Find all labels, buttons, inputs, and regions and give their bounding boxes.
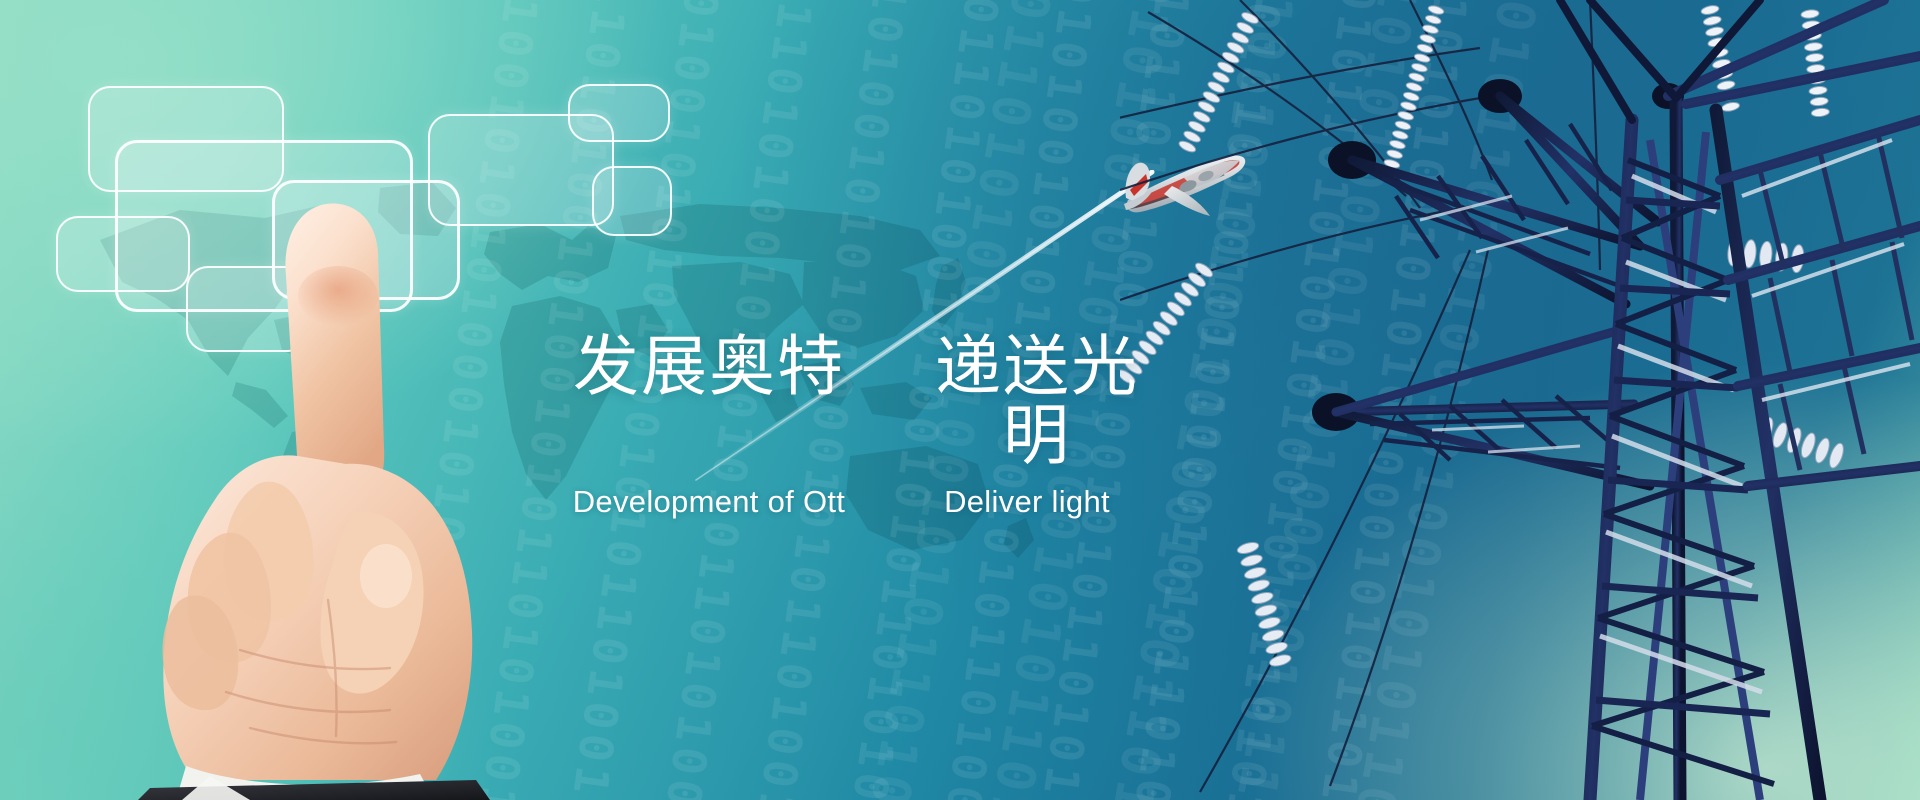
hero-banner: 1010100101010100010101101001010100101010… — [0, 0, 1920, 800]
headline-chinese-left: 发展奥特 — [570, 332, 848, 401]
transmission-tower-icon — [1120, 0, 1920, 800]
hud-tile-7 — [568, 84, 670, 142]
headline-chinese-right: 递送光明 — [914, 332, 1160, 471]
headline-english-left: Development of Ott — [570, 483, 848, 520]
headline-english-row: Development of Ott Deliver light — [570, 483, 1190, 520]
pointing-hand-icon — [90, 180, 530, 800]
headline-chinese-row: 发展奥特 递送光明 — [570, 332, 1190, 471]
headline-english-right: Deliver light — [904, 483, 1150, 520]
hud-tile-8 — [592, 166, 672, 236]
headline-block: 发展奥特 递送光明 Development of Ott Deliver lig… — [570, 332, 1190, 520]
